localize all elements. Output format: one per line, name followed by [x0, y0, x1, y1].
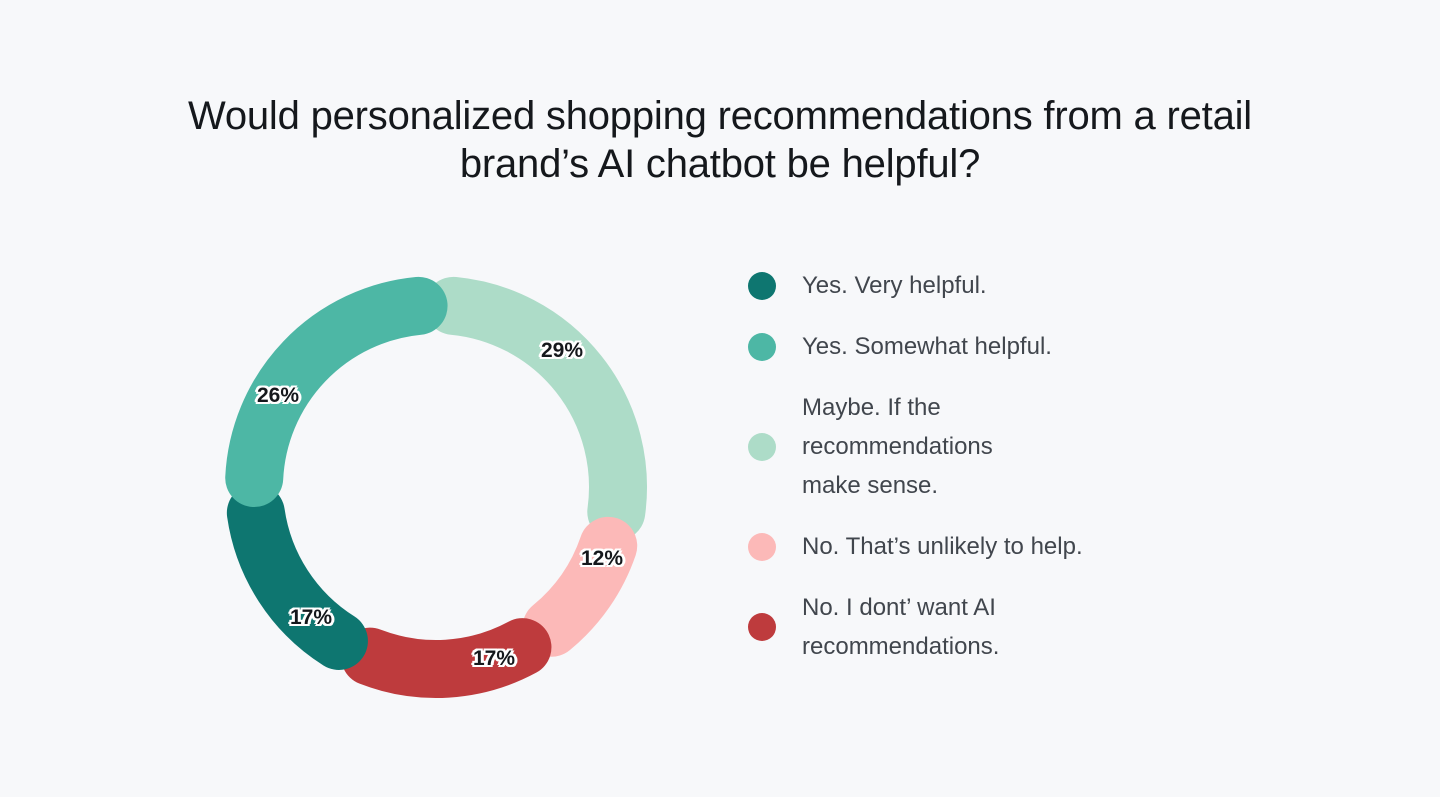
legend-item[interactable]: Yes. Somewhat helpful. — [748, 327, 1228, 366]
legend-color-dot-icon — [748, 272, 776, 300]
legend-color-dot-icon — [748, 533, 776, 561]
legend-color-dot-icon — [748, 333, 776, 361]
legend-color-dot-icon — [748, 433, 776, 461]
slice-percentage-label: 29% — [541, 339, 583, 363]
legend-item[interactable]: Yes. Very helpful. — [748, 266, 1228, 305]
legend-item[interactable]: Maybe. If the recommendations make sense… — [748, 388, 1228, 505]
donut-chart: 29%12%17%17%26% — [196, 252, 686, 722]
legend-item[interactable]: No. That’s unlikely to help. — [748, 527, 1228, 566]
legend-item-label: Yes. Very helpful. — [802, 266, 987, 305]
donut-segment[interactable] — [453, 306, 618, 512]
legend-item-label: No. That’s unlikely to help. — [802, 527, 1083, 566]
donut-chart-svg — [196, 252, 686, 722]
page-title: Would personalized shopping recommendati… — [170, 92, 1270, 188]
legend-color-dot-icon — [748, 613, 776, 641]
slide-root: Would personalized shopping recommendati… — [0, 0, 1440, 797]
slice-percentage-label: 26% — [257, 384, 299, 408]
legend-item-label: Yes. Somewhat helpful. — [802, 327, 1052, 366]
legend-item[interactable]: No. I dont’ want AI recommendations. — [748, 588, 1228, 666]
slice-percentage-label: 17% — [473, 647, 515, 671]
chart-legend: Yes. Very helpful.Yes. Somewhat helpful.… — [748, 266, 1228, 688]
legend-item-label: Maybe. If the recommendations make sense… — [802, 388, 993, 505]
slice-percentage-label: 17% — [290, 606, 332, 630]
slice-percentage-label: 12% — [581, 547, 623, 571]
legend-item-label: No. I dont’ want AI recommendations. — [802, 588, 999, 666]
